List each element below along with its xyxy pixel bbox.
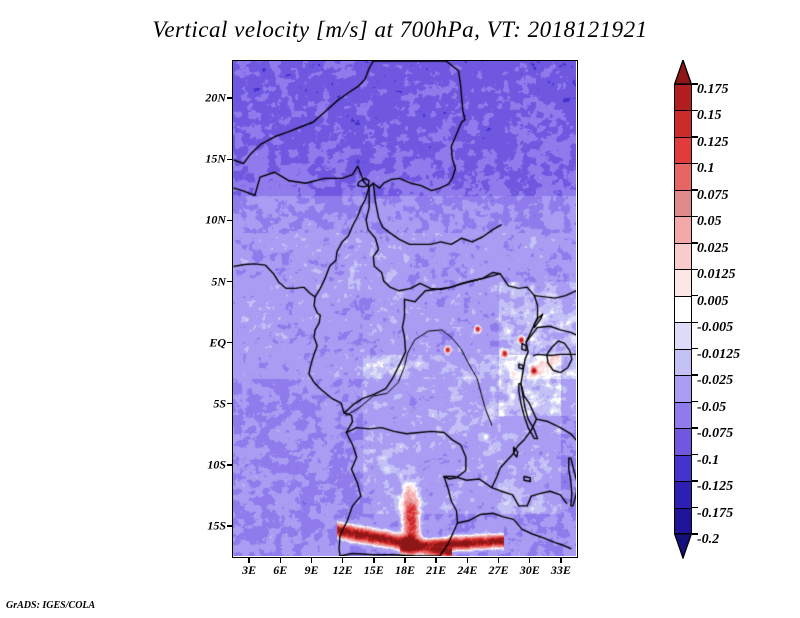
colorbar-band-15	[674, 481, 692, 509]
y-axis-tick-label-2: 10N	[184, 213, 226, 228]
colorbar-band-10	[674, 349, 692, 377]
x-axis-tick-label-6: 21E	[426, 563, 446, 578]
colorbar-band-16	[674, 508, 692, 534]
colorbar-label-12: -0.05	[697, 400, 726, 416]
x-axis-tick-6	[435, 558, 437, 563]
colorbar-label-9: -0.005	[697, 320, 733, 336]
colorbar-band-3	[674, 163, 692, 191]
colorbar-label-1: 0.15	[697, 108, 722, 124]
colorbar-label-0: 0.175	[697, 82, 729, 98]
colorbar-label-17: -0.2	[697, 532, 719, 548]
colorbar-band-1	[674, 110, 692, 138]
x-axis-tick-label-10: 33E	[551, 563, 571, 578]
x-axis-tick-label-2: 9E	[304, 563, 318, 578]
colorbar-band-7	[674, 269, 692, 297]
x-axis-tick-label-5: 18E	[395, 563, 415, 578]
colorbar-label-16: -0.175	[697, 506, 733, 522]
y-axis-tick-3	[227, 281, 232, 283]
x-axis-tick-9	[529, 558, 531, 563]
y-axis-tick-6	[227, 464, 232, 466]
colorbar-band-13	[674, 428, 692, 456]
colorbar	[674, 60, 692, 558]
map-plot-area	[232, 60, 578, 558]
x-axis-tick-label-0: 3E	[242, 563, 256, 578]
colorbar-label-3: 0.1	[697, 161, 715, 177]
x-axis-tick-label-9: 30E	[520, 563, 540, 578]
country-borders-overlay	[233, 61, 576, 556]
colorbar-cap-max-outline	[674, 60, 692, 85]
colorbar-band-11	[674, 375, 692, 403]
colorbar-label-6: 0.025	[697, 241, 729, 257]
colorbar-label-2: 0.125	[697, 135, 729, 151]
y-axis-tick-label-4: EQ	[184, 335, 226, 350]
y-axis-tick-4	[227, 342, 232, 344]
colorbar-band-6	[674, 243, 692, 271]
x-axis-tick-10	[560, 558, 562, 563]
y-axis-tick-label-3: 5N	[184, 274, 226, 289]
colorbar-label-5: 0.05	[697, 214, 722, 230]
y-axis-tick-1	[227, 159, 232, 161]
colorbar-label-7: 0.0125	[697, 267, 736, 283]
x-axis-tick-4	[373, 558, 375, 563]
colorbar-band-5	[674, 216, 692, 244]
colorbar-band-0	[674, 84, 692, 112]
y-axis-tick-5	[227, 403, 232, 405]
x-axis-tick-label-7: 24E	[457, 563, 477, 578]
x-axis-tick-label-3: 12E	[333, 563, 353, 578]
x-axis-tick-0	[248, 558, 250, 563]
colorbar-cap-min-outline	[674, 534, 692, 559]
y-axis-tick-label-0: 20N	[184, 91, 226, 106]
x-axis-tick-label-8: 27E	[489, 563, 509, 578]
y-axis-tick-label-6: 10S	[184, 457, 226, 472]
y-axis-tick-label-7: 15S	[184, 518, 226, 533]
colorbar-label-14: -0.1	[697, 453, 719, 469]
colorbar-label-4: 0.075	[697, 188, 729, 204]
colorbar-label-11: -0.025	[697, 373, 733, 389]
colorbar-label-13: -0.075	[697, 426, 733, 442]
attribution-footer: GrADS: IGES/COLA	[6, 600, 95, 611]
y-axis-tick-label-5: 5S	[184, 396, 226, 411]
chart-title: Vertical velocity [m/s] at 700hPa, VT: 2…	[0, 17, 800, 43]
x-axis-tick-label-1: 6E	[273, 563, 287, 578]
colorbar-band-14	[674, 455, 692, 483]
colorbar-band-9	[674, 322, 692, 350]
colorbar-band-4	[674, 190, 692, 218]
y-axis-tick-7	[227, 525, 232, 527]
x-axis-tick-1	[280, 558, 282, 563]
y-axis-tick-label-1: 15N	[184, 152, 226, 167]
y-axis-tick-2	[227, 220, 232, 222]
colorbar-band-2	[674, 137, 692, 165]
colorbar-label-8: 0.005	[697, 294, 729, 310]
colorbar-label-10: -0.0125	[697, 347, 740, 363]
x-axis-tick-2	[311, 558, 313, 563]
colorbar-label-15: -0.125	[697, 479, 733, 495]
x-axis-tick-7	[467, 558, 469, 563]
x-axis-tick-3	[342, 558, 344, 563]
colorbar-band-12	[674, 402, 692, 430]
colorbar-band-8	[674, 296, 692, 324]
x-axis-tick-5	[404, 558, 406, 563]
x-axis-tick-8	[498, 558, 500, 563]
x-axis-tick-label-4: 15E	[364, 563, 384, 578]
y-axis-tick-0	[227, 97, 232, 99]
